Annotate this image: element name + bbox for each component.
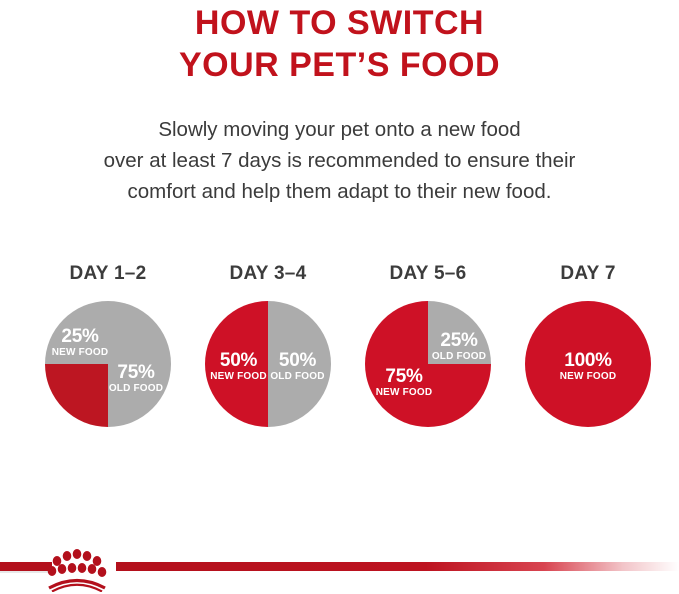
slice-pct: 25% (51, 327, 109, 346)
slice-pct: 25% (431, 331, 487, 350)
slice-who: OLD FOOD (105, 384, 167, 394)
royal-crown-icon (44, 548, 110, 592)
slice-pct: 50% (268, 351, 327, 370)
intro-paragraph: Slowly moving your pet onto a new food o… (8, 114, 671, 207)
pie-card-day-1-2: DAY 1–2 25% NEW FOOD 75% OLD FOOD (28, 262, 188, 442)
pie-slice-label-old-food: 50% OLD FOOD (268, 351, 327, 382)
pie-label-day-3-4: DAY 3–4 (188, 262, 348, 286)
pie-chart-day-3-4: 50% NEW FOOD 50% OLD FOOD (205, 301, 331, 427)
pie-slice-label-new-food: 75% NEW FOOD (373, 367, 435, 398)
pie-slice-label-old-food: 25% OLD FOOD (431, 331, 487, 362)
pie-card-day-3-4: DAY 3–4 50% NEW FOOD 50% OLD FOOD (188, 262, 348, 442)
slice-who: NEW FOOD (209, 372, 268, 382)
page-title: HOW TO SWITCH YOUR PET’S FOOD (0, 2, 679, 86)
intro-line-3: comfort and help them adapt to their new… (8, 176, 671, 207)
slice-who: NEW FOOD (51, 348, 109, 358)
pie-chart-day-5-6: 25% OLD FOOD 75% NEW FOOD (365, 301, 491, 427)
slice-pct: 100% (545, 351, 631, 370)
slice-pct: 50% (209, 351, 268, 370)
pie-chart-day-7: 100% NEW FOOD (525, 301, 651, 427)
slice-who: NEW FOOD (545, 372, 631, 382)
pie-slice-label-new-food: 50% NEW FOOD (209, 351, 268, 382)
slice-pct: 75% (105, 363, 167, 382)
pie-label-day-1-2: DAY 1–2 (28, 262, 188, 286)
pie-label-day-7: DAY 7 (508, 262, 668, 286)
pie-chart-day-1-2: 25% NEW FOOD 75% OLD FOOD (45, 301, 171, 427)
slice-who: OLD FOOD (431, 352, 487, 362)
pie-card-day-7: DAY 7 100% NEW FOOD (508, 262, 668, 442)
intro-line-1: Slowly moving your pet onto a new food (8, 114, 671, 145)
pie-slices-day-5-6 (365, 301, 491, 427)
slice-who: OLD FOOD (268, 372, 327, 382)
pie-card-day-5-6: DAY 5–6 25% OLD FOOD 75% NEW FOOD (348, 262, 508, 442)
pie-slice-label-old-food: 75% OLD FOOD (105, 363, 167, 394)
pie-slice-label-new-food: 25% NEW FOOD (51, 327, 109, 358)
slice-pct: 75% (373, 367, 435, 386)
footer-rule-right (116, 562, 679, 571)
page-title-line-1: HOW TO SWITCH (0, 2, 679, 44)
intro-line-2: over at least 7 days is recommended to e… (8, 145, 671, 176)
pie-label-day-5-6: DAY 5–6 (348, 262, 508, 286)
pie-slice-label-new-food: 100% NEW FOOD (545, 351, 631, 382)
page-title-line-2: YOUR PET’S FOOD (0, 44, 679, 86)
slice-who: NEW FOOD (373, 388, 435, 398)
pie-chart-row: DAY 1–2 25% NEW FOOD 75% OLD FOOD DAY 3–… (0, 262, 679, 442)
